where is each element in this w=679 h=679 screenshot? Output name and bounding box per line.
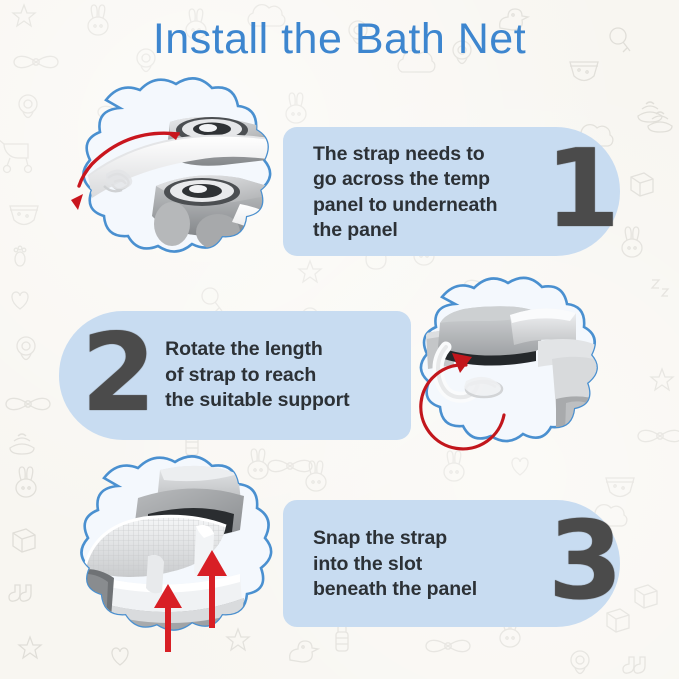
step-3-image-cloud xyxy=(48,460,300,670)
step-2-instruction-text: Rotate the length of strap to reach the … xyxy=(165,337,395,414)
step-3-text-panel: Snap the strap into the slot beneath the… xyxy=(283,500,620,627)
step-3-number: 3 xyxy=(548,519,620,605)
step-2-image-cloud xyxy=(390,281,624,477)
step-2-number: 2 xyxy=(81,331,153,417)
step-1-text-panel: The strap needs to go across the temp pa… xyxy=(283,127,620,256)
step-3-instruction-text: Snap the strap into the slot beneath the… xyxy=(313,524,538,603)
step-1-instruction-text: The strap needs to go across the temp pa… xyxy=(313,140,541,244)
step-1-number: 1 xyxy=(545,147,617,233)
step-2-text-panel: 2 Rotate the length of strap to reach th… xyxy=(59,311,411,440)
page-title: Install the Bath Net xyxy=(0,14,679,64)
step-1-image-cloud xyxy=(52,82,296,294)
